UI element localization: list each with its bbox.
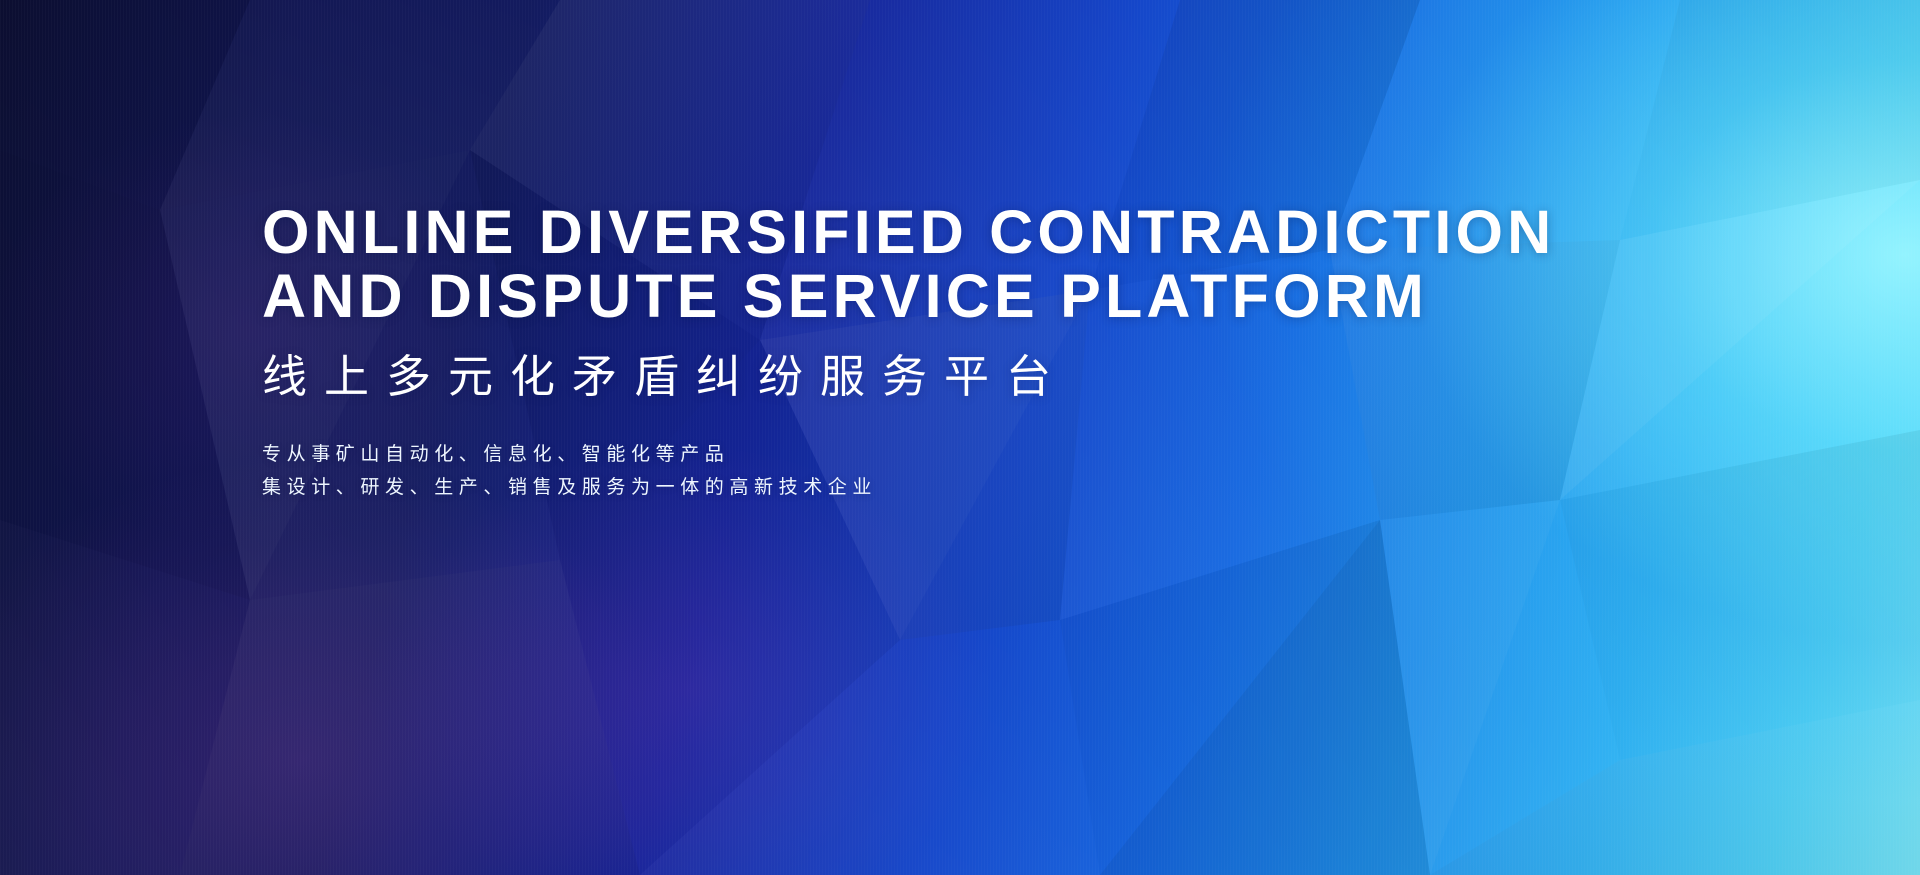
hero-copy-block: ONLINE DIVERSIFIED CONTRADICTION AND DIS…	[262, 200, 1682, 504]
description-line-1: 专从事矿山自动化、信息化、智能化等产品	[262, 438, 1682, 471]
hero-headline-english: ONLINE DIVERSIFIED CONTRADICTION AND DIS…	[262, 200, 1682, 328]
description-line-2: 集设计、研发、生产、销售及服务为一体的高新技术企业	[262, 471, 1682, 504]
hero-description: 专从事矿山自动化、信息化、智能化等产品 集设计、研发、生产、销售及服务为一体的高…	[262, 438, 1682, 504]
hero-subtitle-chinese: 线上多元化矛盾纠纷服务平台	[262, 352, 1682, 402]
hero-banner: ONLINE DIVERSIFIED CONTRADICTION AND DIS…	[0, 0, 1920, 875]
